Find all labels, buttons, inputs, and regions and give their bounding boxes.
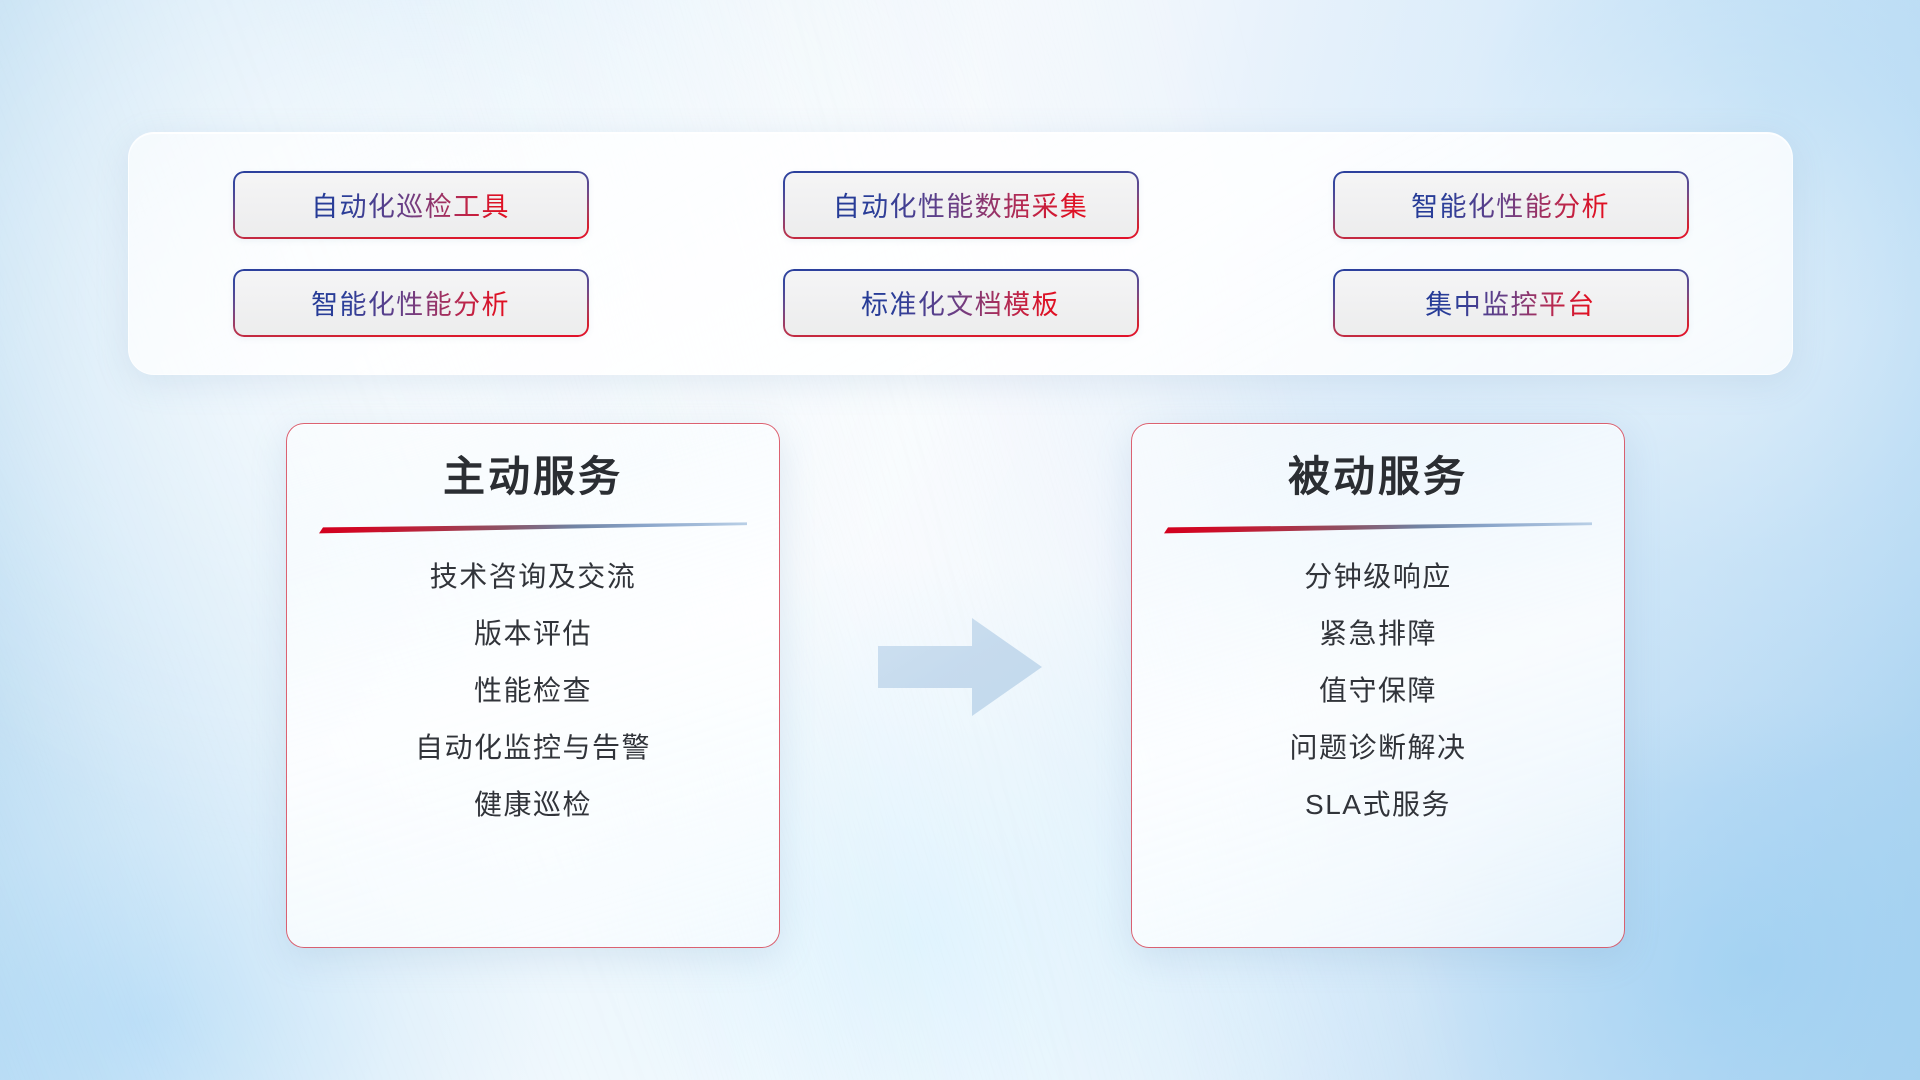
pill-row-1: 自动化巡检工具 自动化性能数据采集 智能化性能分析 — [129, 171, 1792, 239]
card-title-divider — [319, 522, 747, 535]
list-item[interactable]: 问题诊断解决 — [1289, 730, 1466, 765]
card-passive-service[interactable]: 被动服务 分钟级响应 紧急排障 — [1131, 423, 1625, 948]
pill-centralized-monitoring-platform[interactable]: 集中监控平台 — [1333, 269, 1689, 337]
pill-standardized-document-template[interactable]: 标准化文档模板 — [783, 269, 1139, 337]
card-item-list: 技术咨询及交流 版本评估 性能检查 自动化监控与告警 健康巡检 — [287, 559, 779, 822]
list-item[interactable]: SLA式服务 — [1305, 787, 1451, 822]
list-item[interactable]: 自动化监控与告警 — [415, 730, 651, 765]
list-item[interactable]: 分钟级响应 — [1304, 559, 1452, 594]
pill-label: 智能化性能分析 — [1411, 185, 1610, 224]
list-item[interactable]: 技术咨询及交流 — [430, 559, 637, 594]
card-title-divider — [1164, 522, 1592, 535]
pill-intelligent-performance-analysis-bottom[interactable]: 智能化性能分析 — [233, 269, 589, 337]
card-item-list: 分钟级响应 紧急排障 值守保障 问题诊断解决 SLA式服务 — [1132, 559, 1624, 822]
pill-label: 智能化性能分析 — [311, 283, 510, 322]
list-item[interactable]: 版本评估 — [474, 616, 592, 651]
list-item[interactable]: 性能检查 — [474, 673, 592, 708]
pill-label: 集中监控平台 — [1425, 283, 1595, 322]
arrow-right-icon — [876, 612, 1044, 722]
list-item[interactable]: 值守保障 — [1319, 673, 1437, 708]
capability-pill-panel: 自动化巡检工具 自动化性能数据采集 智能化性能分析 智能化性能分析 标准化文档模… — [128, 132, 1793, 375]
pill-label: 标准化文档模板 — [861, 283, 1060, 322]
list-item[interactable]: 健康巡检 — [474, 787, 592, 822]
pill-row-2: 智能化性能分析 标准化文档模板 集中监控平台 — [129, 269, 1792, 337]
list-item[interactable]: 紧急排障 — [1319, 616, 1437, 651]
pill-automated-inspection-tool[interactable]: 自动化巡检工具 — [233, 171, 589, 239]
card-title: 主动服务 — [443, 454, 623, 500]
pill-intelligent-performance-analysis-top[interactable]: 智能化性能分析 — [1333, 171, 1689, 239]
pill-label: 自动化巡检工具 — [311, 185, 510, 224]
card-active-service[interactable]: 主动服务 技术咨询及交流 版本评估 — [286, 423, 780, 948]
card-title: 被动服务 — [1288, 454, 1468, 500]
pill-automated-performance-data-collection[interactable]: 自动化性能数据采集 — [783, 171, 1139, 239]
pill-label: 自动化性能数据采集 — [833, 185, 1089, 224]
